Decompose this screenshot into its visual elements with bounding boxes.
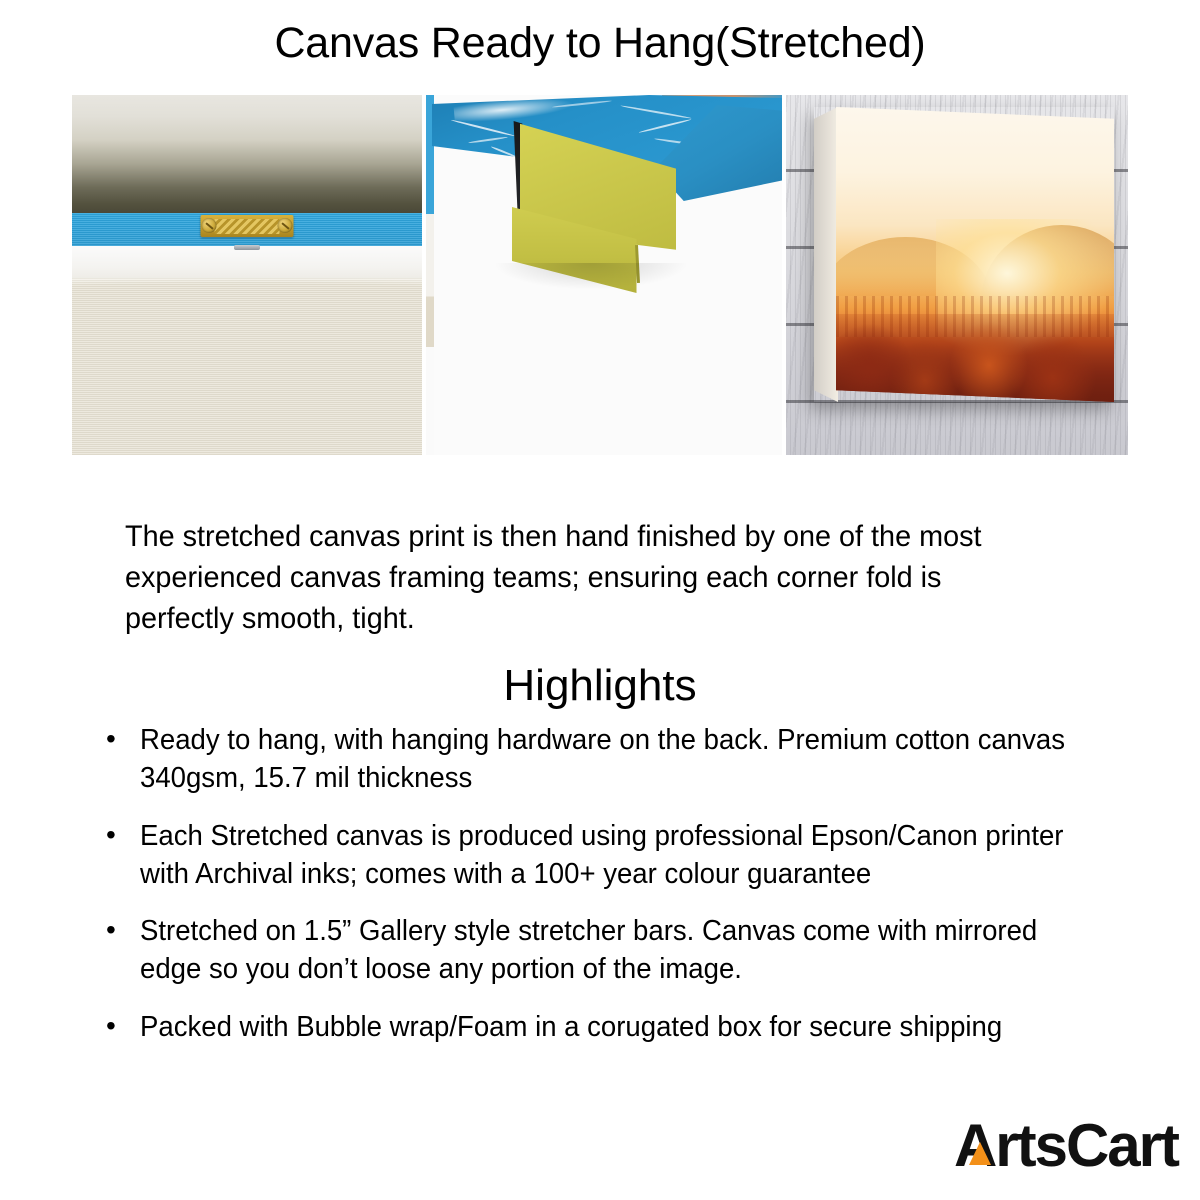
photo2-wave xyxy=(639,118,692,133)
photo1-canvas-face xyxy=(72,278,422,455)
highlights-heading: Highlights xyxy=(0,664,1200,708)
canvas-back-hanger-photo xyxy=(72,95,422,455)
page-title: Canvas Ready to Hang(Stretched) xyxy=(0,0,1200,65)
list-item-text: Packed with Bubble wrap/Foam in a coruga… xyxy=(140,1008,1075,1046)
product-photo-gallery xyxy=(72,95,1128,455)
bullet-dot-icon: • xyxy=(104,912,140,948)
photo1-wall-backdrop xyxy=(72,95,422,213)
list-item: • Ready to hang, with hanging hardware o… xyxy=(104,721,1124,798)
intro-paragraph: The stretched canvas print is then hand … xyxy=(125,517,1037,639)
highlights-list: • Ready to hang, with hanging hardware o… xyxy=(104,721,1124,1065)
hanger-teeth xyxy=(215,219,280,234)
hanger-screw-right xyxy=(278,218,293,233)
photo3-canvas-side-depth xyxy=(814,107,838,402)
photo2-left-sliver xyxy=(426,95,434,455)
artscart-logo: ArtsCart xyxy=(954,1114,1178,1178)
canvas-on-wall-photo xyxy=(786,95,1128,455)
list-item: • Each Stretched canvas is produced usin… xyxy=(104,817,1124,894)
orange-triangle-icon xyxy=(969,1142,991,1165)
bullet-dot-icon: • xyxy=(104,721,140,757)
photo2-wave xyxy=(620,105,691,119)
sawtooth-hanger-icon xyxy=(201,215,294,237)
list-item: • Packed with Bubble wrap/Foam in a coru… xyxy=(104,1008,1124,1046)
list-item-text: Each Stretched canvas is produced using … xyxy=(140,817,1075,894)
list-item-text: Ready to hang, with hanging hardware on … xyxy=(140,721,1075,798)
photo3-canvas-print-face xyxy=(836,107,1114,402)
hanger-screw-left xyxy=(202,218,217,233)
photo3-canvas-artwork xyxy=(814,107,1114,402)
list-item: • Stretched on 1.5” Gallery style stretc… xyxy=(104,912,1124,989)
bullet-dot-icon: • xyxy=(104,817,140,853)
photo2-wave xyxy=(468,136,508,144)
photo1-nail xyxy=(234,245,260,250)
canvas-corner-fold-photo xyxy=(426,95,782,455)
list-item-text: Stretched on 1.5” Gallery style stretche… xyxy=(140,912,1075,989)
photo3-foreground-foliage xyxy=(836,314,1114,403)
photo2-drop-shadow xyxy=(496,263,686,289)
bullet-dot-icon: • xyxy=(104,1008,140,1044)
photo1-canvas-white-band xyxy=(72,246,422,282)
